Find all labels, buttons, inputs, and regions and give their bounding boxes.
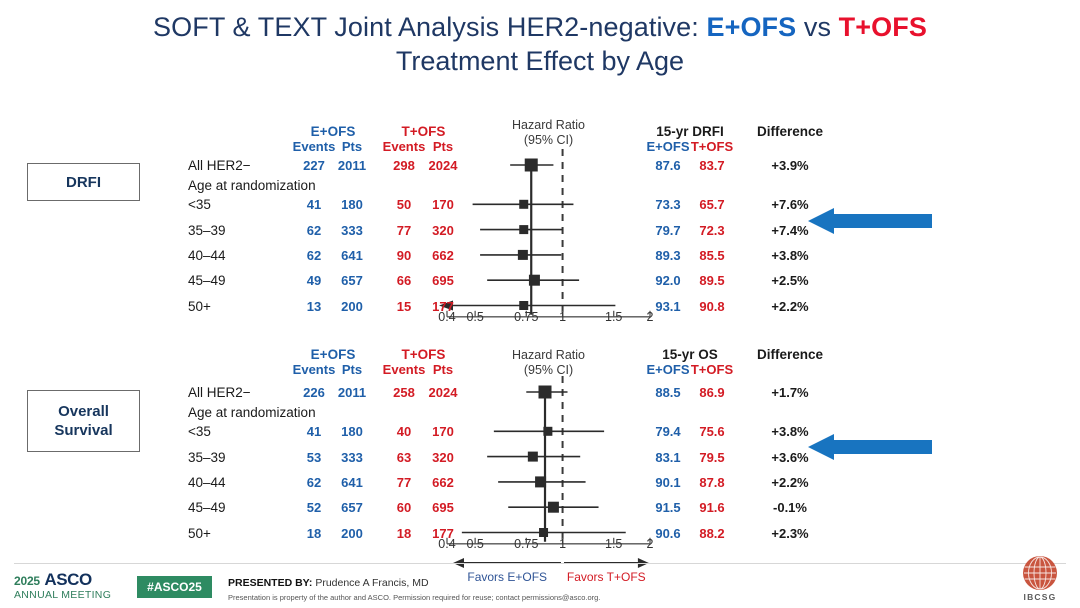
row-tofs-rate: 85.5 bbox=[699, 249, 724, 262]
row-tofs-pts: 695 bbox=[432, 501, 454, 514]
header-tofs-group: T+OFS bbox=[402, 348, 446, 361]
row-eofs-pts: 200 bbox=[341, 527, 363, 540]
header-outcome-group: 15-yr OS bbox=[662, 348, 718, 361]
axis-tick-label: 0.5 bbox=[466, 538, 483, 551]
row-tofs-pts: 177 bbox=[432, 300, 454, 313]
row-eofs-pts: 657 bbox=[341, 274, 363, 287]
row-tofs-rate: 83.7 bbox=[699, 159, 724, 172]
axis-tick-label: 0.75 bbox=[514, 538, 538, 551]
row-label: <35 bbox=[188, 425, 211, 438]
row-tofs-rate: 90.8 bbox=[699, 300, 724, 313]
row-tofs-pts: 320 bbox=[432, 224, 454, 237]
row-tofs-rate: 79.5 bbox=[699, 451, 724, 464]
os-label-line1: Overall bbox=[58, 403, 109, 420]
row-eofs-rate: 73.3 bbox=[655, 198, 680, 211]
os-label-line2: Survival bbox=[54, 422, 112, 439]
header-tofs-events: Events bbox=[383, 363, 426, 376]
favors-right-label: Favors T+OFS bbox=[567, 570, 646, 584]
row-eofs-events: 13 bbox=[307, 300, 321, 313]
axis-tick-label: 1.5 bbox=[605, 538, 622, 551]
row-tofs-events: 18 bbox=[397, 527, 411, 540]
row-eofs-events: 41 bbox=[307, 198, 321, 211]
row-eofs-pts: 200 bbox=[341, 300, 363, 313]
asco-subtitle: ANNUAL MEETING bbox=[14, 589, 134, 601]
globe-icon bbox=[1023, 556, 1057, 590]
row-label: 45‒49 bbox=[188, 274, 226, 287]
hazard-ratio-axis-title: Hazard Ratio(95% CI) bbox=[512, 118, 585, 148]
row-tofs-rate: 88.2 bbox=[699, 527, 724, 540]
hazard-ratio-title-line2: (95% CI) bbox=[512, 133, 585, 148]
row-eofs-rate: 83.1 bbox=[655, 451, 680, 464]
row-eofs-pts: 180 bbox=[341, 198, 363, 211]
header-eofs-pts: Pts bbox=[342, 140, 362, 153]
row-label: All HER2− bbox=[188, 386, 251, 399]
row-tofs-events: 63 bbox=[397, 451, 411, 464]
row-tofs-pts: 662 bbox=[432, 249, 454, 262]
ibcsg-logo: IBCSG bbox=[1018, 556, 1062, 602]
row-tofs-rate: 65.7 bbox=[699, 198, 724, 211]
row-difference: +2.2% bbox=[771, 476, 808, 489]
row-label: 45‒49 bbox=[188, 501, 226, 514]
section-subheader: Age at randomization bbox=[188, 179, 316, 192]
row-eofs-pts: 641 bbox=[341, 249, 363, 262]
panel-label-drfi-text: DRFI bbox=[66, 173, 101, 192]
asco-year: 2025 bbox=[14, 574, 40, 588]
row-eofs-rate: 90.6 bbox=[655, 527, 680, 540]
row-label: 40‒44 bbox=[188, 476, 226, 489]
axis-tick-label: 2 bbox=[647, 311, 654, 324]
header-eofs-events: Events bbox=[293, 363, 336, 376]
row-difference: +3.8% bbox=[771, 425, 808, 438]
row-eofs-events: 62 bbox=[307, 249, 321, 262]
row-label: 35‒39 bbox=[188, 451, 226, 464]
row-tofs-rate: 87.8 bbox=[699, 476, 724, 489]
header-eofs-group: E+OFS bbox=[311, 125, 356, 138]
header-tofs-group: T+OFS bbox=[402, 125, 446, 138]
row-tofs-pts: 170 bbox=[432, 425, 454, 438]
row-tofs-pts: 662 bbox=[432, 476, 454, 489]
panel-label-os-text: Overall Survival bbox=[54, 402, 112, 440]
row-difference: +7.6% bbox=[771, 198, 808, 211]
header-eofs-pts: Pts bbox=[342, 363, 362, 376]
row-difference: +2.5% bbox=[771, 274, 808, 287]
page-title: SOFT & TEXT Joint Analysis HER2-negative… bbox=[0, 10, 1080, 78]
row-eofs-events: 18 bbox=[307, 527, 321, 540]
header-tofs-rate: T+OFS bbox=[691, 363, 733, 376]
row-tofs-events: 77 bbox=[397, 224, 411, 237]
row-tofs-events: 298 bbox=[393, 159, 415, 172]
row-eofs-events: 226 bbox=[303, 386, 325, 399]
row-tofs-pts: 177 bbox=[432, 527, 454, 540]
callout-arrow-os bbox=[808, 434, 932, 465]
presenter-name: Prudence A Francis, MD bbox=[315, 577, 428, 589]
header-tofs-pts: Pts bbox=[433, 363, 453, 376]
panel-label-overall-survival: Overall Survival bbox=[27, 390, 140, 452]
title-line-2: Treatment Effect by Age bbox=[0, 44, 1080, 78]
row-tofs-rate: 72.3 bbox=[699, 224, 724, 237]
row-tofs-pts: 2024 bbox=[429, 386, 458, 399]
row-tofs-pts: 2024 bbox=[429, 159, 458, 172]
row-difference: +3.6% bbox=[771, 451, 808, 464]
title-tofs: T+OFS bbox=[839, 12, 927, 42]
row-eofs-events: 52 bbox=[307, 501, 321, 514]
axis-tick-label: 1 bbox=[559, 311, 566, 324]
row-eofs-events: 227 bbox=[303, 159, 325, 172]
row-eofs-rate: 88.5 bbox=[655, 386, 680, 399]
row-tofs-rate: 89.5 bbox=[699, 274, 724, 287]
hazard-ratio-title-line1: Hazard Ratio bbox=[512, 118, 585, 133]
axis-tick-label: 2 bbox=[647, 538, 654, 551]
axis-tick-label: 1 bbox=[559, 538, 566, 551]
row-eofs-events: 62 bbox=[307, 224, 321, 237]
callout-arrow-drfi bbox=[808, 208, 932, 239]
row-label: 50+ bbox=[188, 300, 211, 313]
row-label: <35 bbox=[188, 198, 211, 211]
row-eofs-rate: 79.7 bbox=[655, 224, 680, 237]
axis-tick-label: 0.5 bbox=[466, 311, 483, 324]
header-eofs-events: Events bbox=[293, 140, 336, 153]
row-tofs-rate: 91.6 bbox=[699, 501, 724, 514]
title-text-main: SOFT & TEXT Joint Analysis HER2-negative… bbox=[153, 12, 706, 42]
axis-tick-label: 0.75 bbox=[514, 311, 538, 324]
row-eofs-events: 53 bbox=[307, 451, 321, 464]
asco-logo: 2025 ASCO ANNUAL MEETING bbox=[14, 572, 134, 601]
row-difference: +3.9% bbox=[771, 159, 808, 172]
row-tofs-events: 77 bbox=[397, 476, 411, 489]
presented-by: PRESENTED BY: Prudence A Francis, MD bbox=[228, 577, 429, 589]
hazard-ratio-title-line1: Hazard Ratio bbox=[512, 348, 585, 363]
row-eofs-rate: 92.0 bbox=[655, 274, 680, 287]
row-eofs-pts: 180 bbox=[341, 425, 363, 438]
row-tofs-pts: 170 bbox=[432, 198, 454, 211]
header-tofs-rate: T+OFS bbox=[691, 140, 733, 153]
row-tofs-events: 50 bbox=[397, 198, 411, 211]
header-outcome-group: 15-yr DRFI bbox=[656, 125, 724, 138]
row-eofs-rate: 93.1 bbox=[655, 300, 680, 313]
favors-left-label: Favors E+OFS bbox=[467, 570, 547, 584]
header-difference: Difference bbox=[757, 348, 823, 361]
row-eofs-pts: 2011 bbox=[338, 386, 366, 399]
row-tofs-events: 90 bbox=[397, 249, 411, 262]
row-eofs-events: 41 bbox=[307, 425, 321, 438]
row-label: All HER2− bbox=[188, 159, 251, 172]
row-eofs-rate: 90.1 bbox=[655, 476, 680, 489]
row-difference: -0.1% bbox=[773, 501, 807, 514]
row-tofs-events: 66 bbox=[397, 274, 411, 287]
permission-notice: Presentation is property of the author a… bbox=[228, 593, 600, 602]
footer-divider bbox=[14, 563, 1066, 564]
row-tofs-rate: 86.9 bbox=[699, 386, 724, 399]
row-tofs-pts: 695 bbox=[432, 274, 454, 287]
slide-root: SOFT & TEXT Joint Analysis HER2-negative… bbox=[0, 0, 1080, 608]
hazard-ratio-axis-title: Hazard Ratio(95% CI) bbox=[512, 348, 585, 378]
row-label: 40‒44 bbox=[188, 249, 226, 262]
title-line-1: SOFT & TEXT Joint Analysis HER2-negative… bbox=[0, 10, 1080, 44]
row-eofs-events: 49 bbox=[307, 274, 321, 287]
row-tofs-rate: 75.6 bbox=[699, 425, 724, 438]
hashtag-badge: #ASCO25 bbox=[137, 576, 212, 598]
ibcsg-wordmark: IBCSG bbox=[1018, 592, 1062, 602]
title-vs: vs bbox=[796, 12, 838, 42]
row-tofs-events: 15 bbox=[397, 300, 411, 313]
row-difference: +2.2% bbox=[771, 300, 808, 313]
row-label: 35‒39 bbox=[188, 224, 226, 237]
row-difference: +3.8% bbox=[771, 249, 808, 262]
row-tofs-events: 60 bbox=[397, 501, 411, 514]
row-difference: +1.7% bbox=[771, 386, 808, 399]
row-label: 50+ bbox=[188, 527, 211, 540]
row-difference: +2.3% bbox=[771, 527, 808, 540]
row-difference: +7.4% bbox=[771, 224, 808, 237]
row-eofs-events: 62 bbox=[307, 476, 321, 489]
row-tofs-events: 258 bbox=[393, 386, 415, 399]
row-eofs-pts: 2011 bbox=[338, 159, 366, 172]
title-eofs: E+OFS bbox=[706, 12, 796, 42]
row-eofs-pts: 641 bbox=[341, 476, 363, 489]
row-tofs-events: 40 bbox=[397, 425, 411, 438]
header-eofs-rate: E+OFS bbox=[647, 363, 690, 376]
row-tofs-pts: 320 bbox=[432, 451, 454, 464]
asco-logo-top: 2025 ASCO bbox=[14, 572, 134, 589]
section-subheader: Age at randomization bbox=[188, 406, 316, 419]
presented-by-label: PRESENTED BY: bbox=[228, 577, 312, 589]
row-eofs-rate: 91.5 bbox=[655, 501, 680, 514]
axis-tick-label: 1.5 bbox=[605, 311, 622, 324]
row-eofs-rate: 79.4 bbox=[655, 425, 680, 438]
header-difference: Difference bbox=[757, 125, 823, 138]
row-eofs-pts: 657 bbox=[341, 501, 363, 514]
row-eofs-pts: 333 bbox=[341, 451, 363, 464]
row-eofs-rate: 87.6 bbox=[655, 159, 680, 172]
row-eofs-pts: 333 bbox=[341, 224, 363, 237]
asco-wordmark: ASCO bbox=[44, 570, 92, 589]
header-eofs-group: E+OFS bbox=[311, 348, 356, 361]
row-eofs-rate: 89.3 bbox=[655, 249, 680, 262]
panel-label-drfi: DRFI bbox=[27, 163, 140, 201]
